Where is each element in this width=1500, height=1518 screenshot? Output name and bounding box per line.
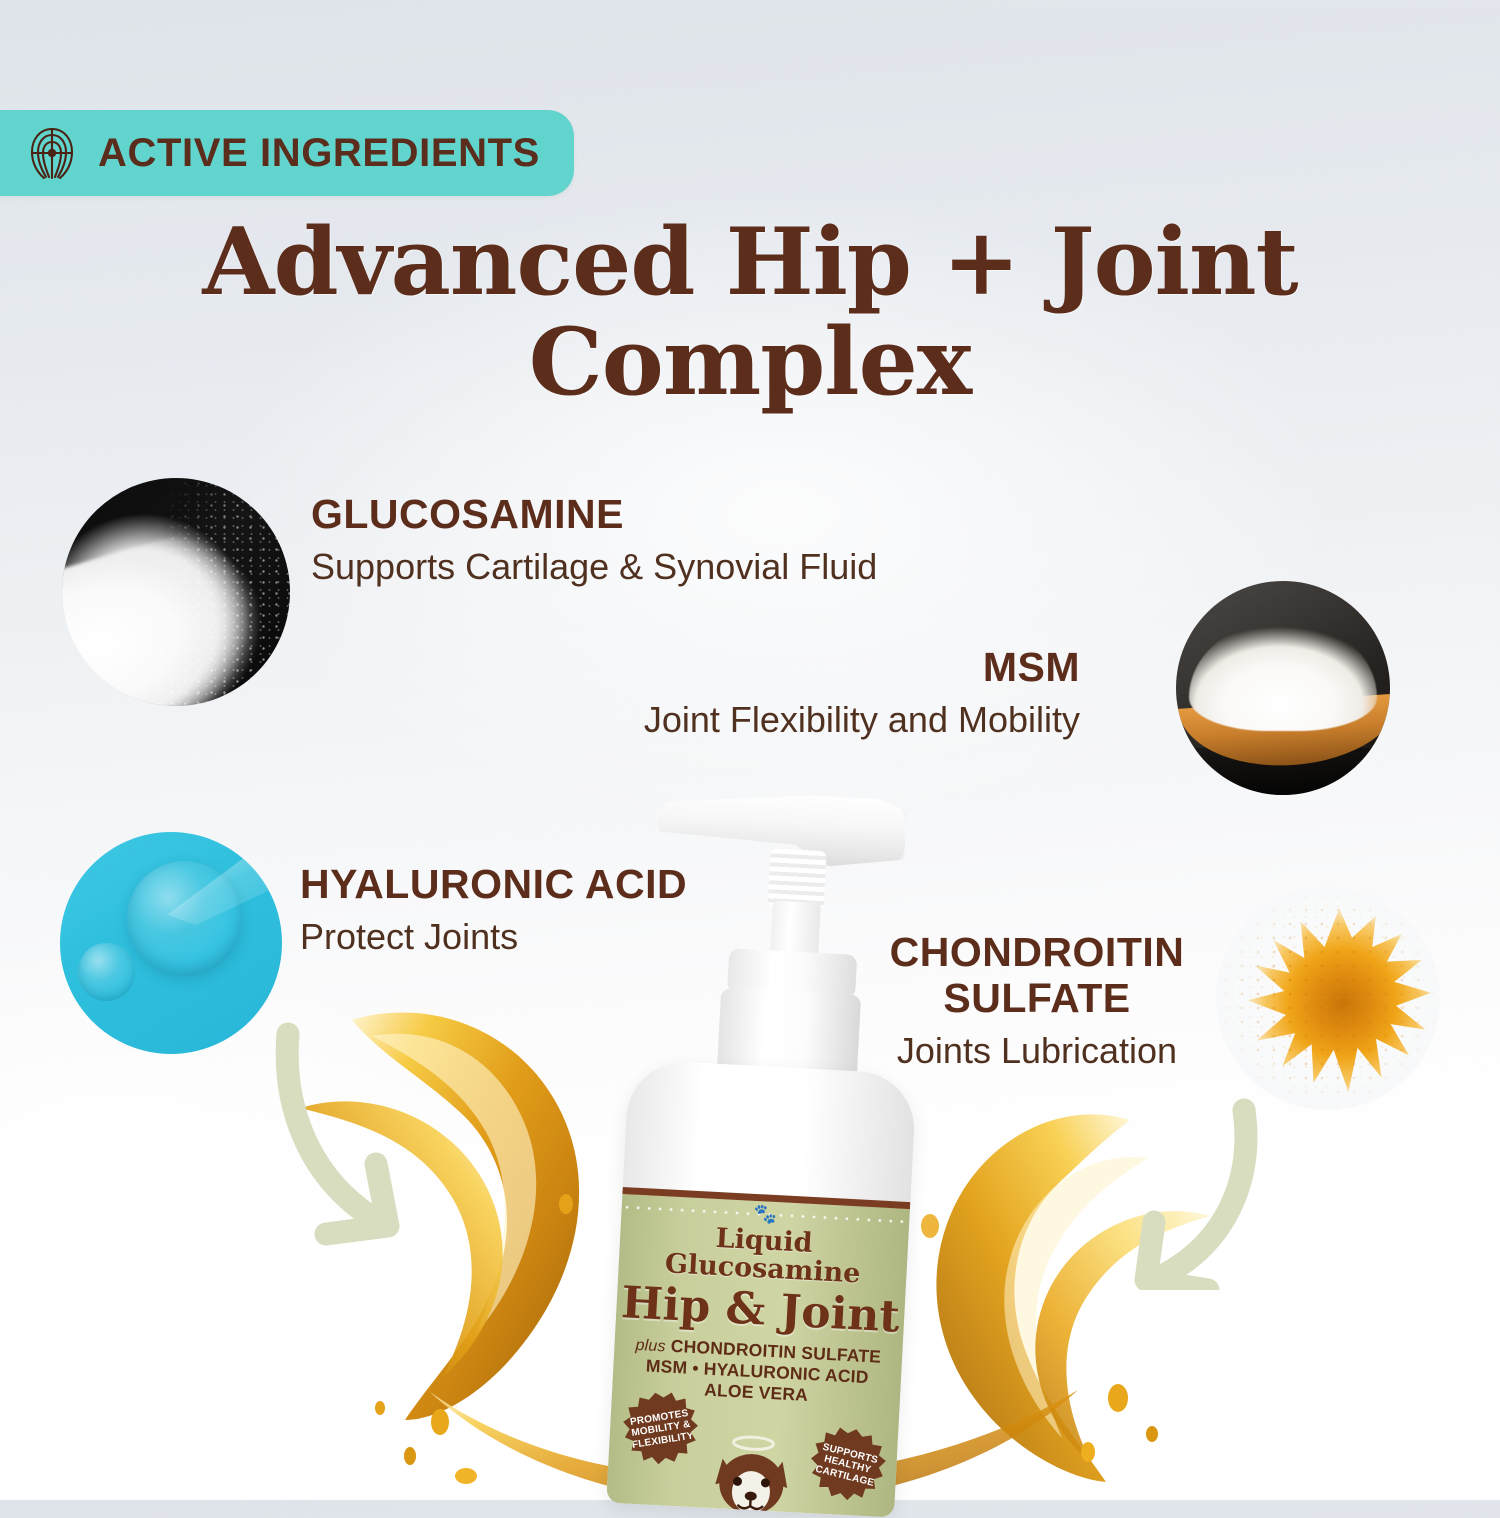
right-arrow-svg bbox=[1092, 1080, 1282, 1290]
paw-print-icon: 🐾 bbox=[753, 1205, 778, 1225]
dog-with-halo-icon bbox=[690, 1427, 814, 1518]
ingredient-msm: MSM Joint Flexibility and Mobility bbox=[644, 645, 1080, 744]
glucosamine-photo bbox=[62, 478, 290, 706]
page-title: Advanced Hip + Joint Complex bbox=[0, 212, 1500, 413]
curved-arrow-down-right-icon bbox=[272, 1000, 442, 1285]
active-ingredients-label: ACTIVE INGREDIENTS bbox=[98, 131, 540, 176]
seal-supports-cartilage: SUPPORTS HEALTHY CARTILAGE bbox=[803, 1420, 893, 1510]
powder-specks bbox=[1216, 886, 1440, 1110]
powder-grains bbox=[62, 478, 290, 706]
gel-drop-small bbox=[78, 943, 136, 1001]
label-line-hip-joint: Hip & Joint bbox=[615, 1281, 905, 1341]
bottle-label: 🐾 Liquid Glucosamine Hip & Joint plus CH… bbox=[606, 1187, 910, 1518]
ingredient-desc: Joint Flexibility and Mobility bbox=[644, 697, 1080, 744]
product-bottle: 🐾 Liquid Glucosamine Hip & Joint plus CH… bbox=[598, 783, 935, 1518]
bottle-body: 🐾 Liquid Glucosamine Hip & Joint plus CH… bbox=[606, 1059, 917, 1517]
powder-heap bbox=[1189, 620, 1377, 731]
ingredient-desc: Supports Cartilage & Synovial Fluid bbox=[311, 544, 877, 591]
page-title-line-1: Advanced Hip + Joint bbox=[0, 212, 1500, 312]
label-text-plus: plus bbox=[635, 1336, 666, 1355]
hyaluronic-acid-photo bbox=[60, 832, 282, 1054]
fingerprint-icon-svg bbox=[28, 126, 76, 180]
page-title-line-2: Complex bbox=[0, 312, 1500, 412]
curved-arrow-down-left-icon bbox=[1092, 1080, 1282, 1295]
chondroitin-photo bbox=[1216, 886, 1440, 1110]
label-text-aloe: ALOE VERA bbox=[704, 1380, 809, 1405]
ingredient-name: GLUCOSAMINE bbox=[311, 492, 877, 538]
ingredient-name: MSM bbox=[644, 645, 1080, 691]
msm-photo bbox=[1176, 581, 1390, 795]
ingredient-glucosamine: GLUCOSAMINE Supports Cartilage & Synovia… bbox=[311, 492, 877, 591]
left-arrow-svg bbox=[272, 1000, 442, 1280]
active-ingredients-badge: ACTIVE INGREDIENTS bbox=[0, 110, 574, 196]
fingerprint-icon bbox=[28, 126, 76, 180]
